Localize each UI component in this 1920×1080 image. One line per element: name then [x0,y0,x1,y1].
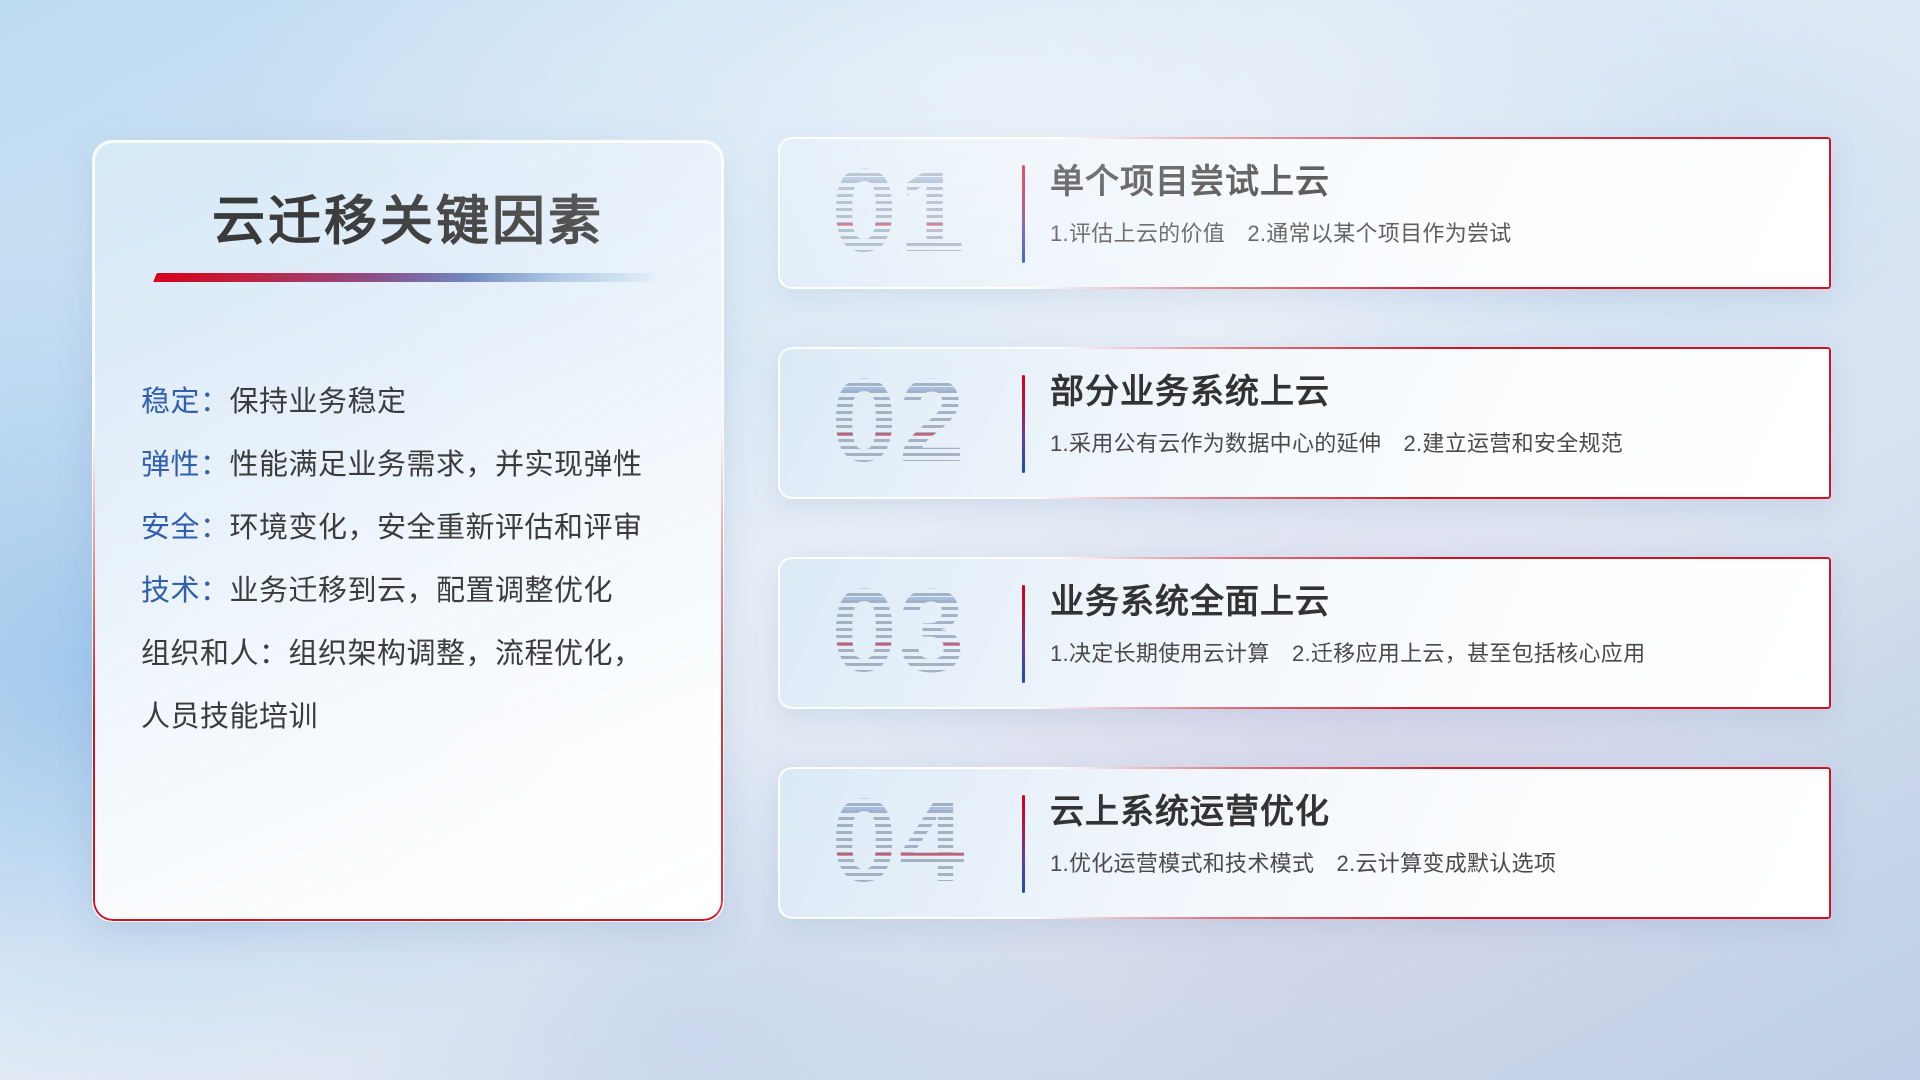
factor-label: 安全： [141,512,230,544]
step-divider-bar [1022,795,1025,893]
step-description: 1.优化运营模式和技术模式 2.云计算变成默认选项 [1050,849,1811,879]
factor-label: 稳定： [141,386,230,418]
factor-text: 人员技能培训 [141,701,318,733]
factor-label: 弹性： [141,449,230,481]
step-body: 部分业务系统上云 1.采用公有云作为数据中心的延伸 2.建立运营和安全规范 [1050,369,1811,459]
step-title: 部分业务系统上云 [1050,369,1811,415]
step-title: 单个项目尝试上云 [1050,159,1811,205]
step-number-accent-stripes: 04 [804,767,994,919]
factor-text: 环境变化，安全重新评估和评审 [230,512,643,544]
factor-row: 稳定：保持业务稳定 [141,371,697,434]
step-card[interactable]: 03 03 业务系统全面上云 1.决定长期使用云计算 2.迁移应用上云，甚至包括… [778,557,1831,709]
step-description: 1.决定长期使用云计算 2.迁移应用上云，甚至包括核心应用 [1050,639,1811,669]
step-number-accent-stripes: 03 [804,557,994,709]
factor-row: 弹性：性能满足业务需求，并实现弹性 [141,434,697,497]
factor-text: 业务迁移到云，配置调整优化 [230,575,614,607]
step-divider-bar [1022,375,1025,473]
step-description: 1.评估上云的价值 2.通常以某个项目作为尝试 [1050,219,1811,249]
step-number-accent-stripes: 02 [804,347,994,499]
factor-text: 保持业务稳定 [230,386,407,418]
step-body: 单个项目尝试上云 1.评估上云的价值 2.通常以某个项目作为尝试 [1050,159,1811,249]
factor-text: 性能满足业务需求，并实现弹性 [230,449,643,481]
step-number-accent-stripes: 01 [804,137,994,289]
step-title: 业务系统全面上云 [1050,579,1811,625]
factor-row: 人员技能培训 [141,686,697,749]
key-factors-panel: 云迁移关键因素 稳定：保持业务稳定 弹性：性能满足业务需求，并实现弹性 安全：环… [92,140,724,922]
slide-canvas: 云迁移关键因素 稳定：保持业务稳定 弹性：性能满足业务需求，并实现弹性 安全：环… [0,0,1920,1080]
step-body: 云上系统运营优化 1.优化运营模式和技术模式 2.云计算变成默认选项 [1050,789,1811,879]
page-title: 云迁移关键因素 [93,179,723,255]
step-divider-bar [1022,585,1025,683]
factor-row: 技术：业务迁移到云，配置调整优化 [141,560,697,623]
factor-text: 组织架构调整，流程优化， [289,638,643,670]
step-card[interactable]: 04 04 云上系统运营优化 1.优化运营模式和技术模式 2.云计算变成默认选项 [778,767,1831,919]
factor-label: 组织和人： [141,638,289,670]
step-body: 业务系统全面上云 1.决定长期使用云计算 2.迁移应用上云，甚至包括核心应用 [1050,579,1811,669]
factor-list: 稳定：保持业务稳定 弹性：性能满足业务需求，并实现弹性 安全：环境变化，安全重新… [141,371,697,749]
step-divider-bar [1022,165,1025,263]
step-card[interactable]: 01 01 单个项目尝试上云 1.评估上云的价值 2.通常以某个项目作为尝试 [778,137,1831,289]
title-underline-gradient [153,273,657,282]
factor-label: 技术： [141,575,230,607]
step-card[interactable]: 02 02 部分业务系统上云 1.采用公有云作为数据中心的延伸 2.建立运营和安… [778,347,1831,499]
step-title: 云上系统运营优化 [1050,789,1811,835]
step-description: 1.采用公有云作为数据中心的延伸 2.建立运营和安全规范 [1050,429,1811,459]
maturity-steps-list: 01 01 单个项目尝试上云 1.评估上云的价值 2.通常以某个项目作为尝试 0… [778,137,1831,977]
factor-row: 安全：环境变化，安全重新评估和评审 [141,497,697,560]
factor-row: 组织和人：组织架构调整，流程优化， [141,623,697,686]
